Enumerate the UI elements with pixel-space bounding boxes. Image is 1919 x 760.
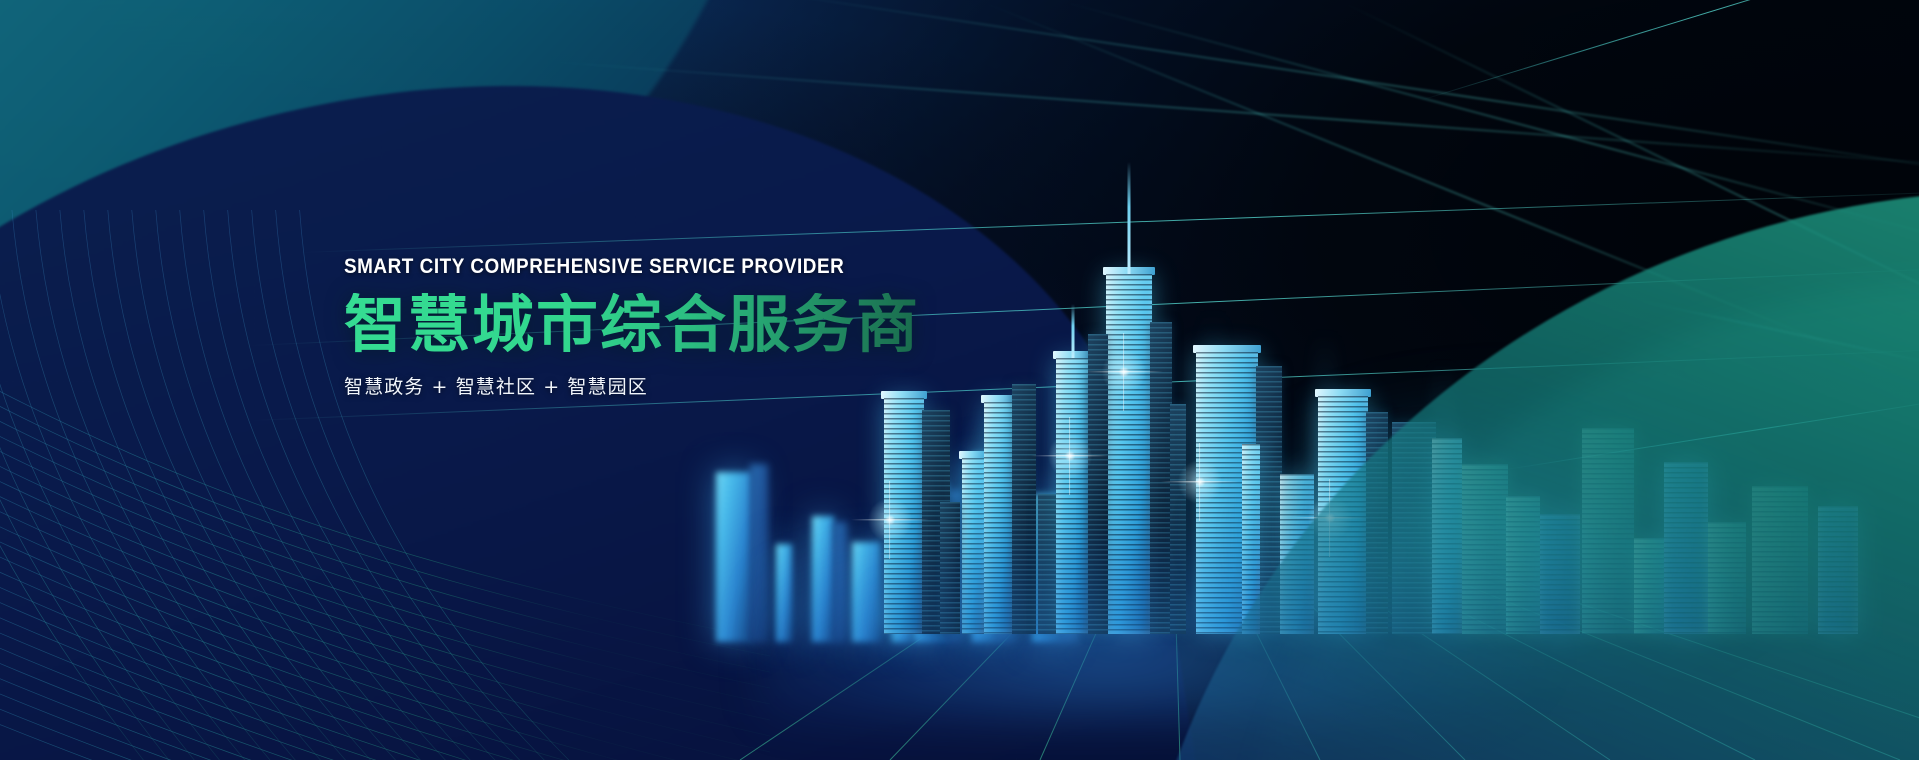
page-title: 智慧城市综合服务商 xyxy=(344,293,920,356)
hero-eyebrow: SMART CITY COMPREHENSIVE SERVICE PROVIDE… xyxy=(344,255,862,279)
light-flare-icon xyxy=(1097,345,1151,399)
hero-subtitle: 智慧政务 + 智慧社区 + 智慧园区 xyxy=(344,372,920,399)
hero-banner: SMART CITY COMPREHENSIVE SERVICE PROVIDE… xyxy=(0,0,1919,760)
hero-copy: SMART CITY COMPREHENSIVE SERVICE PROVIDE… xyxy=(344,255,920,399)
